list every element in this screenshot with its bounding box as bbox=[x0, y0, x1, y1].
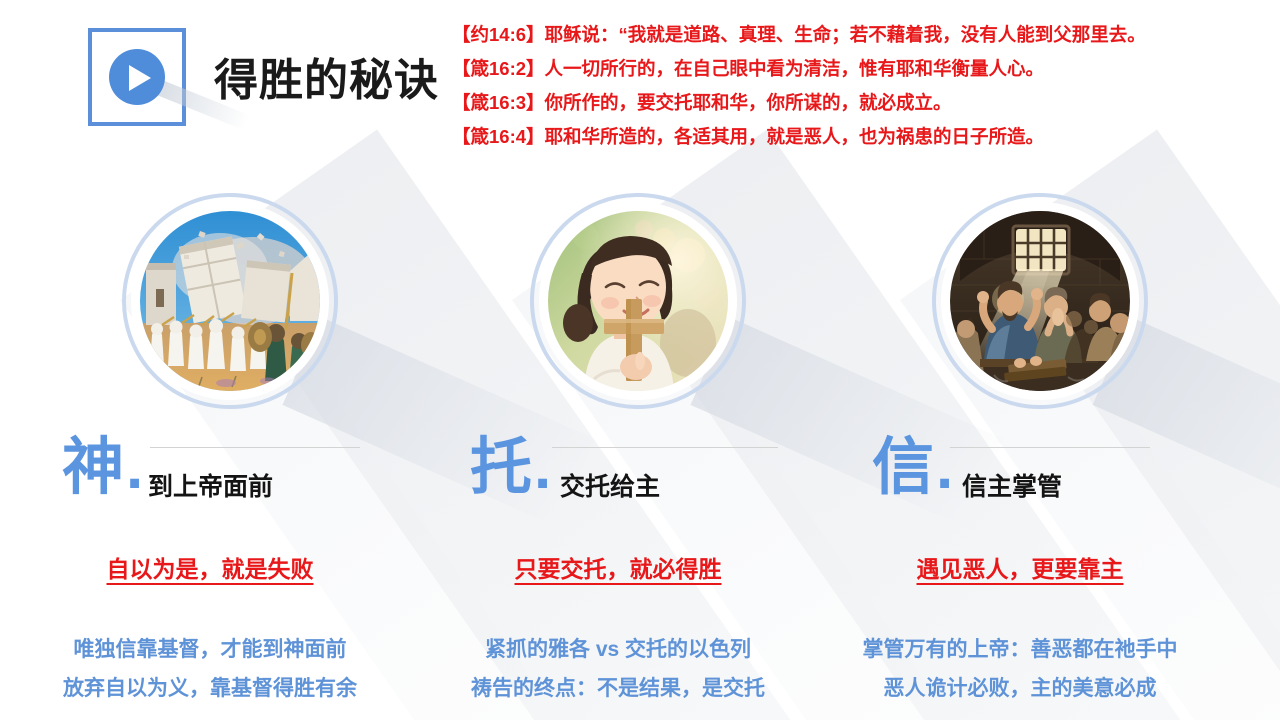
scripture-verse-line: 【箴16:2】人一切所行的，在自己眼中看为清洁，惟有耶和华衡量人心。 bbox=[452, 52, 1252, 86]
scripture-verse-line: 【箴16:3】你所作的，要交托耶和华，你所谋的，就必成立。 bbox=[452, 86, 1252, 120]
page-title: 得胜的秘诀 bbox=[214, 44, 439, 108]
heading-subtitle-2: 交托给主 bbox=[560, 467, 660, 503]
girl-holding-cross-image bbox=[548, 211, 728, 391]
slide-header: 得胜的秘诀 【约14:6】耶稣说：“我就是道路、真理、生命；若不藉着我，没有人能… bbox=[0, 0, 1280, 165]
note-line: 掌管万有的上帝：善恶都在祂手中 bbox=[810, 630, 1230, 669]
big-character-1: 神 bbox=[62, 437, 124, 499]
notes-3: 掌管万有的上帝：善恶都在祂手中 恶人诡计必败，主的美意必成 bbox=[810, 630, 1230, 708]
note-line: 放弃自以为义，靠基督得胜有余 bbox=[0, 669, 420, 708]
column-shen: 神 . 到上帝面前 自以为是，就是失败 唯独信靠基督，才能到神面前 放弃自以为义… bbox=[0, 165, 420, 720]
note-line: 紧抓的雅各 vs 交托的以色列 bbox=[408, 630, 828, 669]
heading-rule-2 bbox=[552, 447, 778, 448]
play-button-icon bbox=[88, 28, 186, 126]
heading-rule-3 bbox=[950, 447, 1150, 448]
heading-rule-1 bbox=[150, 447, 360, 448]
heading-row-2: 托 . 交托给主 bbox=[408, 443, 828, 515]
heading-subtitle-3: 信主掌管 bbox=[962, 467, 1062, 503]
paul-silas-praying-in-prison-image bbox=[950, 211, 1130, 391]
statement-3: 遇见恶人，更要靠主 bbox=[810, 550, 1230, 584]
note-line: 恶人诡计必败，主的美意必成 bbox=[810, 669, 1230, 708]
statement-2: 只要交托，就必得胜 bbox=[408, 550, 828, 584]
medallion-3 bbox=[932, 193, 1148, 409]
big-character-2: 托 bbox=[470, 437, 532, 499]
note-line: 唯独信靠基督，才能到神面前 bbox=[0, 630, 420, 669]
medallion-1 bbox=[122, 193, 338, 409]
note-line: 祷告的终点：不是结果，是交托 bbox=[408, 669, 828, 708]
scripture-verse-line: 【箴16:4】耶和华所造的，各适其用，就是恶人，也为祸患的日子所造。 bbox=[452, 120, 1252, 154]
three-point-columns: 神 . 到上帝面前 自以为是，就是失败 唯独信靠基督，才能到神面前 放弃自以为义… bbox=[0, 165, 1280, 720]
medallion-2 bbox=[530, 193, 746, 409]
column-tuo: 托 . 交托给主 只要交托，就必得胜 紧抓的雅各 vs 交托的以色列 祷告的终点… bbox=[408, 165, 828, 720]
heading-row-3: 信 . 信主掌管 bbox=[810, 443, 1230, 515]
jericho-walls-falling-image bbox=[140, 211, 320, 391]
scripture-verse-list: 【约14:6】耶稣说：“我就是道路、真理、生命；若不藉着我，没有人能到父那里去。… bbox=[452, 18, 1252, 154]
play-triangle-icon bbox=[129, 65, 151, 91]
notes-1: 唯独信靠基督，才能到神面前 放弃自以为义，靠基督得胜有余 bbox=[0, 630, 420, 708]
presentation-slide: 得胜的秘诀 【约14:6】耶稣说：“我就是道路、真理、生命；若不藉着我，没有人能… bbox=[0, 0, 1280, 720]
heading-subtitle-1: 到上帝面前 bbox=[148, 467, 273, 503]
scripture-verse-line: 【约14:6】耶稣说：“我就是道路、真理、生命；若不藉着我，没有人能到父那里去。 bbox=[452, 18, 1252, 52]
statement-1: 自以为是，就是失败 bbox=[0, 550, 420, 584]
column-xin: 信 . 信主掌管 遇见恶人，更要靠主 掌管万有的上帝：善恶都在祂手中 恶人诡计必… bbox=[810, 165, 1230, 720]
big-character-3: 信 bbox=[872, 437, 934, 499]
heading-row-1: 神 . 到上帝面前 bbox=[0, 443, 420, 515]
big-dot-1: . bbox=[126, 437, 143, 499]
big-dot-2: . bbox=[534, 437, 551, 499]
notes-2: 紧抓的雅各 vs 交托的以色列 祷告的终点：不是结果，是交托 bbox=[408, 630, 828, 708]
